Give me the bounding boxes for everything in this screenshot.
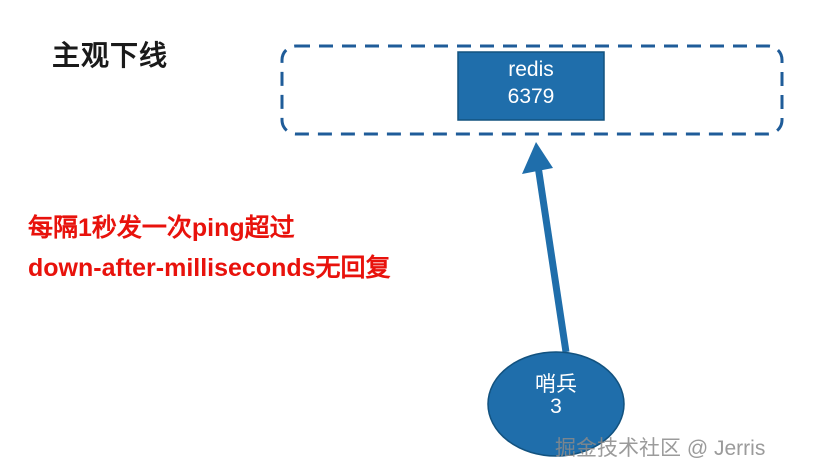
redis-node-port: 6379	[458, 85, 604, 109]
diagram-canvas: 主观下线 每隔1秒发一次ping超过 down-after-millisecon…	[0, 0, 817, 473]
sentinel-node-id: 3	[486, 395, 626, 419]
watermark-text: 掘金技术社区 @ Jerris	[555, 432, 765, 462]
annotation-line-1: 每隔1秒发一次ping超过	[28, 208, 295, 244]
page-title: 主观下线	[52, 34, 168, 74]
sentinel-node-name: 哨兵	[486, 368, 626, 398]
annotation-line-2: down-after-milliseconds无回复	[28, 248, 391, 284]
ping-arrow	[522, 142, 566, 352]
redis-node-name: redis	[458, 58, 604, 82]
